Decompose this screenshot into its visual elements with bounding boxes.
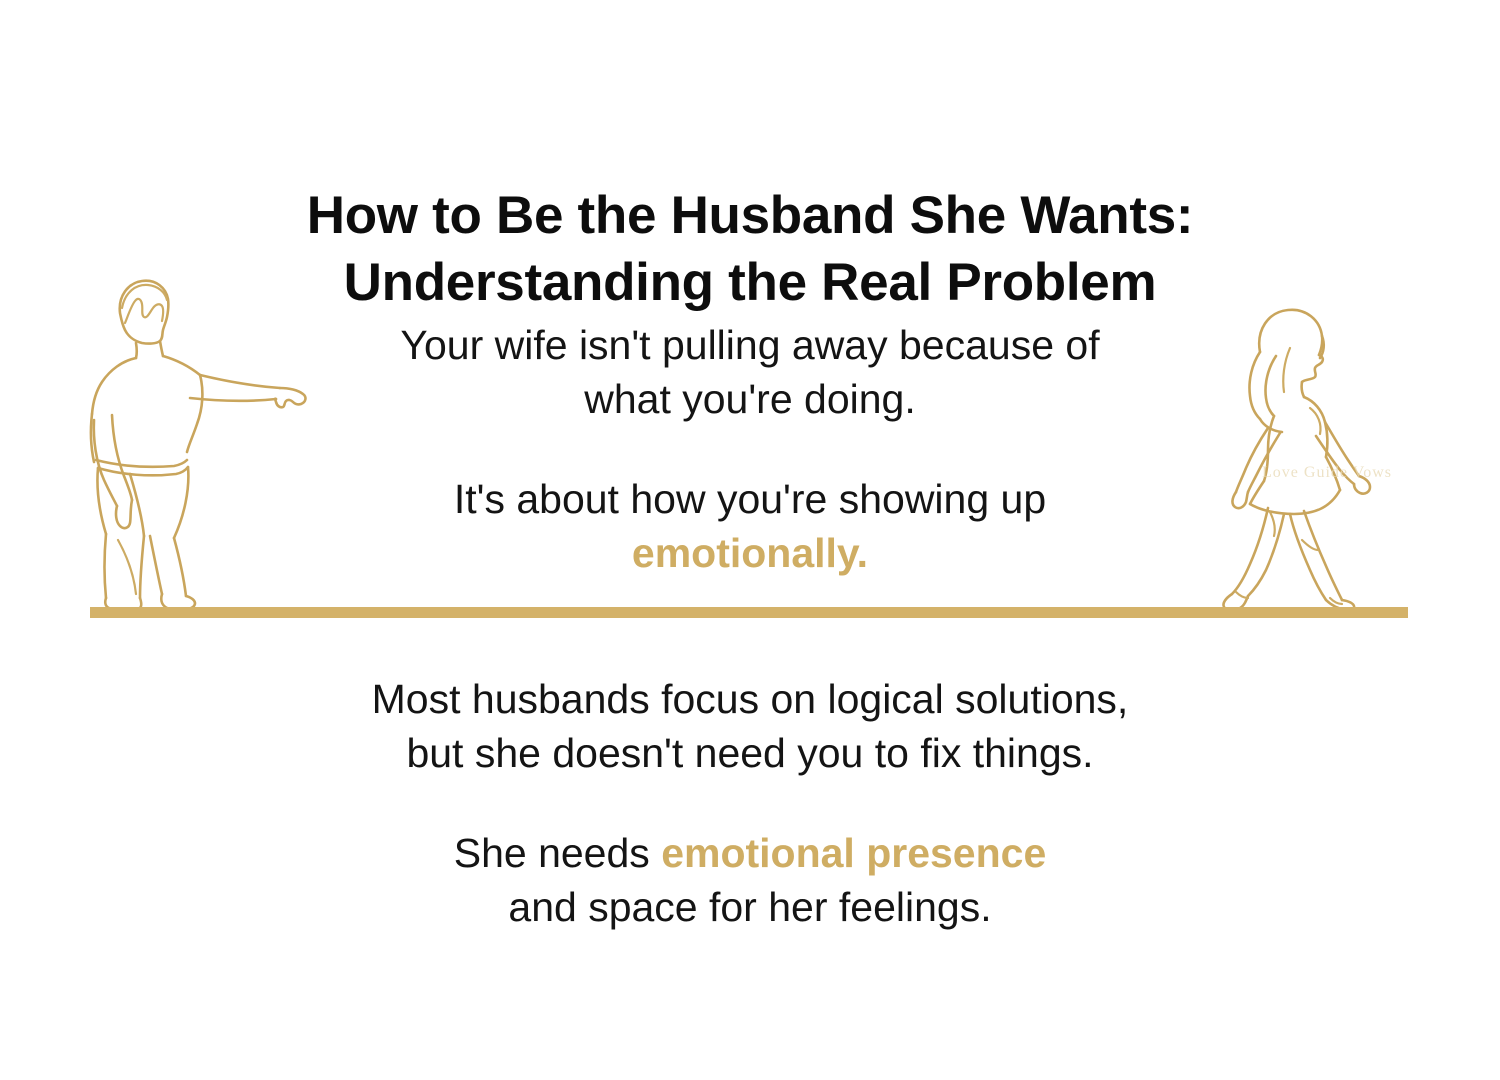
paragraph-spacer (280, 426, 1220, 472)
top-p1-line1: Your wife isn't pulling away because of (280, 318, 1220, 372)
top-p2-accent: emotionally. (280, 526, 1220, 580)
bottom-text-block: Most husbands focus on logical solutions… (260, 672, 1240, 934)
bottom-p2-line1: She needs emotional presence (260, 826, 1240, 880)
bottom-p1-line1: Most husbands focus on logical solutions… (260, 672, 1240, 726)
bottom-p1-line2: but she doesn't need you to fix things. (260, 726, 1240, 780)
top-p2-line1: It's about how you're showing up (280, 472, 1220, 526)
paragraph-spacer (260, 780, 1240, 826)
bottom-p2-line2: and space for her feelings. (260, 880, 1240, 934)
top-p1-line2: what you're doing. (280, 372, 1220, 426)
slide-canvas: How to Be the Husband She Wants: Underst… (0, 0, 1500, 1080)
ground-line (90, 607, 1408, 618)
bottom-p2-prefix: She needs (454, 830, 661, 876)
top-text-block: Your wife isn't pulling away because of … (280, 318, 1220, 580)
bottom-p2-accent: emotional presence (661, 830, 1046, 876)
woman-line-art-walking-away (1198, 300, 1398, 618)
